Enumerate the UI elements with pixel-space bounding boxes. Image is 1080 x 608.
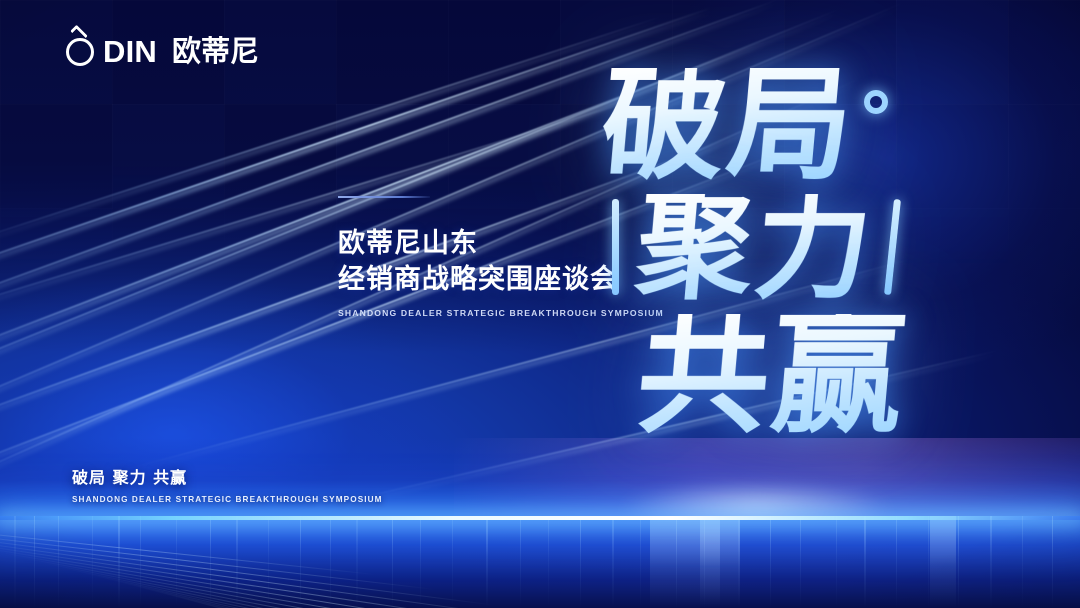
ground-diagonal-rays bbox=[0, 516, 1080, 608]
accent-bar-left-icon bbox=[612, 199, 619, 295]
brand-logo: DIN 欧蒂尼 bbox=[66, 36, 259, 67]
hero-line-2: 聚力 bbox=[632, 194, 877, 301]
horizon-ground bbox=[0, 516, 1080, 608]
degree-ring-icon bbox=[864, 90, 888, 114]
hero-line-3: 共赢 bbox=[633, 314, 912, 435]
footer-tagline: 破局 聚力 共赢 SHANDONG DEALER STRATEGIC BREAK… bbox=[72, 464, 383, 504]
title-divider-rule bbox=[338, 196, 430, 198]
tagline-chinese: 破局 聚力 共赢 bbox=[72, 464, 383, 488]
hero-line-3-row: 共赢 bbox=[638, 314, 906, 435]
event-backdrop-banner: DIN 欧蒂尼 欧蒂尼山东 经销商战略突围座谈会 SHANDONG DEALER… bbox=[0, 0, 1080, 608]
hero-line-1-row: 破局 bbox=[602, 68, 888, 182]
logo-latin-text: DIN bbox=[103, 36, 157, 67]
hero-line-1: 破局 bbox=[597, 68, 859, 182]
hero-calligraphy: 破局 聚力 共赢 bbox=[560, 42, 1040, 472]
horizon-glow-line bbox=[0, 516, 1080, 520]
hero-line-2-row: 聚力 bbox=[612, 194, 896, 301]
tagline-english: SHANDONG DEALER STRATEGIC BREAKTHROUGH S… bbox=[72, 495, 383, 504]
logo-chinese-text: 欧蒂尼 bbox=[172, 37, 259, 66]
accent-bar-right-icon bbox=[884, 199, 901, 295]
logo-o-icon bbox=[66, 38, 94, 66]
